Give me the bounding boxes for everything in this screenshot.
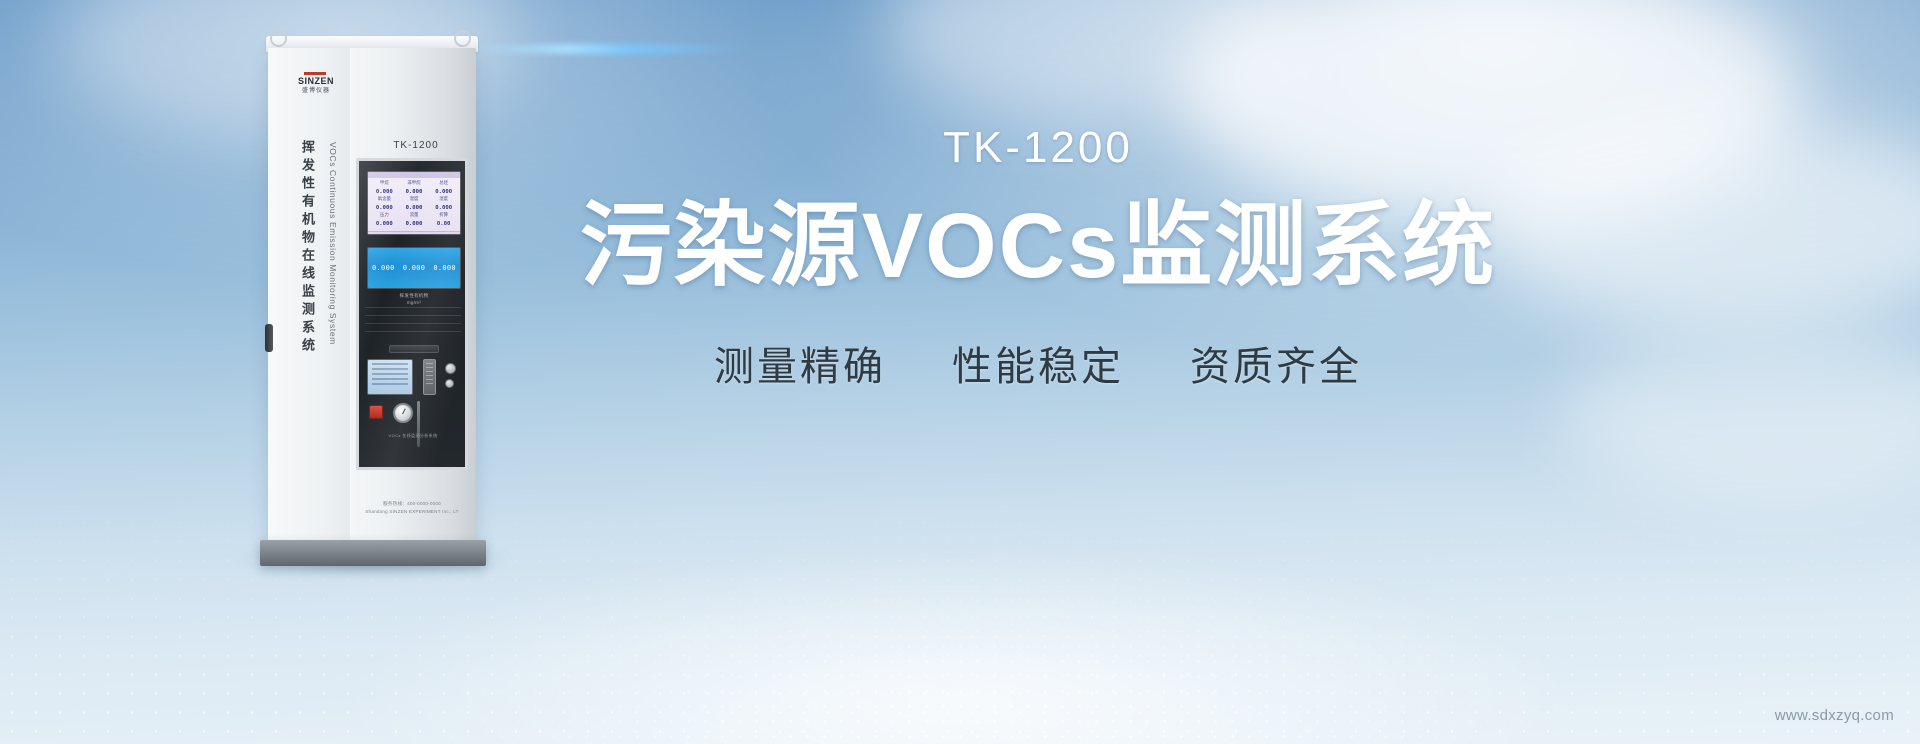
hmi-cell-value: 0.000 <box>400 204 429 212</box>
logo-brand-cn: 盛博仪器 <box>290 88 342 94</box>
hmi-cell-label: 湿度 <box>439 197 448 202</box>
cabinet-footer-line2: Shandong SINZEN EXPERIMENT Inc., LT <box>356 508 468 516</box>
door-bottom-label: VOCs 在线监测分析系统 <box>367 433 459 439</box>
emergency-stop-button <box>369 405 383 419</box>
product-model-code: TK-1200 <box>548 126 1528 170</box>
control-knob-small-icon <box>445 379 454 388</box>
rack-vent-lines <box>365 307 461 343</box>
sample-tube <box>417 401 420 447</box>
product-image-cabinet: SINZEN 盛博仪器 挥发性有机物在线监测系统 VOCs Continuous… <box>258 22 488 567</box>
hmi-cell-label: 总烃 <box>439 181 448 186</box>
hmi-cell: 非甲烷0.000 <box>400 181 429 196</box>
cabinet-footer-line1: 服务热线：400-0000-0000 <box>356 500 468 508</box>
lcd-value: 0.000 <box>372 264 395 272</box>
cabinet-window-door: 甲烷0.000 非甲烷0.000 总烃0.000 氧含量0.000 温度0.00… <box>356 158 468 470</box>
cabinet-left-panel: SINZEN 盛博仪器 挥发性有机物在线监测系统 VOCs Continuous… <box>268 48 350 544</box>
analyzer-caption: 挥发性有机物 mg/m³ <box>377 293 451 307</box>
hmi-cell-value: 0.00 <box>429 220 458 228</box>
hmi-cell-label: 折算 <box>439 213 448 218</box>
lifting-eye-left-icon <box>270 30 287 47</box>
logo-accent-bar <box>304 72 326 75</box>
banner-copy-block: TK-1200 污染源VOCs监测系统 测量精确 性能稳定 资质齐全 <box>548 126 1528 392</box>
analyzer-caption-line1: 挥发性有机物 <box>377 293 451 300</box>
hmi-title-bar <box>368 172 460 178</box>
site-watermark: www.sdxzyq.com <box>1775 707 1894 724</box>
hmi-cell-label: 压力 <box>380 213 389 218</box>
cloud-decoration <box>1480 120 1920 330</box>
cloud-decoration <box>880 0 1300 120</box>
hmi-cell: 流量0.000 <box>400 213 429 228</box>
feature-item-1: 测量精确 <box>714 334 886 392</box>
light-streak <box>454 44 754 54</box>
brand-logo: SINZEN 盛博仪器 <box>290 72 342 94</box>
hmi-footer-bar <box>368 231 460 235</box>
product-banner: SINZEN 盛博仪器 挥发性有机物在线监测系统 VOCs Continuous… <box>0 0 1920 744</box>
hmi-cell-value: 0.000 <box>370 204 399 212</box>
hmi-cell: 压力0.000 <box>370 213 399 228</box>
hmi-cell: 总烃0.000 <box>429 181 458 196</box>
lcd-value-row: 0.000 0.000 0.000 <box>368 248 460 288</box>
banner-feature-list: 测量精确 性能稳定 资质齐全 <box>548 334 1528 392</box>
analyzer-lcd-display: 0.000 0.000 0.000 <box>367 247 461 289</box>
hmi-cell: 温度0.000 <box>400 197 429 212</box>
control-knob-icon <box>445 363 456 374</box>
hmi-cell-value: 0.000 <box>429 188 458 196</box>
banner-headline: 污染源VOCs监测系统 <box>548 198 1528 296</box>
feature-item-2: 性能稳定 <box>952 334 1124 392</box>
hmi-cell: 湿度0.000 <box>429 197 458 212</box>
module-slot <box>389 345 439 353</box>
lcd-value: 0.000 <box>433 264 456 272</box>
cabinet-vertical-title-en: VOCs Continuous Emission Monitoring Syst… <box>328 142 338 345</box>
hmi-touch-screen: 甲烷0.000 非甲烷0.000 总烃0.000 氧含量0.000 温度0.00… <box>367 171 461 235</box>
hmi-cell-value: 0.000 <box>400 188 429 196</box>
hmi-cell-label: 温度 <box>410 197 419 202</box>
analyzer-caption-unit: mg/m³ <box>377 300 451 307</box>
cabinet-door-handle <box>265 324 273 352</box>
hmi-data-grid: 甲烷0.000 非甲烷0.000 总烃0.000 氧含量0.000 温度0.00… <box>368 178 460 231</box>
hmi-cell-value: 0.000 <box>400 220 429 228</box>
hmi-cell-value: 0.000 <box>429 204 458 212</box>
lcd-value: 0.000 <box>403 264 426 272</box>
cabinet-model-label: TK-1200 <box>364 140 468 151</box>
hmi-cell: 氧含量0.000 <box>370 197 399 212</box>
gauge-cluster <box>419 357 463 397</box>
cabinet-body: SINZEN 盛博仪器 挥发性有机物在线监测系统 VOCs Continuous… <box>268 48 476 544</box>
cabinet-base-plinth <box>260 540 486 566</box>
feature-item-3: 资质齐全 <box>1190 334 1362 392</box>
cabinet-footer-text: 服务热线：400-0000-0000 Shandong SINZEN EXPER… <box>356 500 468 516</box>
hmi-cell-label: 非甲烷 <box>407 181 420 186</box>
pressure-gauge-icon <box>393 403 413 423</box>
secondary-display-panel <box>367 359 413 395</box>
hmi-cell-label: 氧含量 <box>378 197 391 202</box>
lifting-eye-right-icon <box>454 30 471 47</box>
hmi-cell-value: 0.000 <box>370 188 399 196</box>
logo-brand-en: SINZEN <box>290 77 342 86</box>
flow-column-icon <box>423 359 436 395</box>
hmi-cell: 折算0.00 <box>429 213 458 228</box>
hmi-cell-value: 0.000 <box>370 220 399 228</box>
hmi-cell-label: 甲烷 <box>380 181 389 186</box>
hmi-cell-label: 流量 <box>410 213 419 218</box>
cabinet-vertical-title-cn: 挥发性有机物在线监测系统 <box>298 140 317 356</box>
hmi-cell: 甲烷0.000 <box>370 181 399 196</box>
